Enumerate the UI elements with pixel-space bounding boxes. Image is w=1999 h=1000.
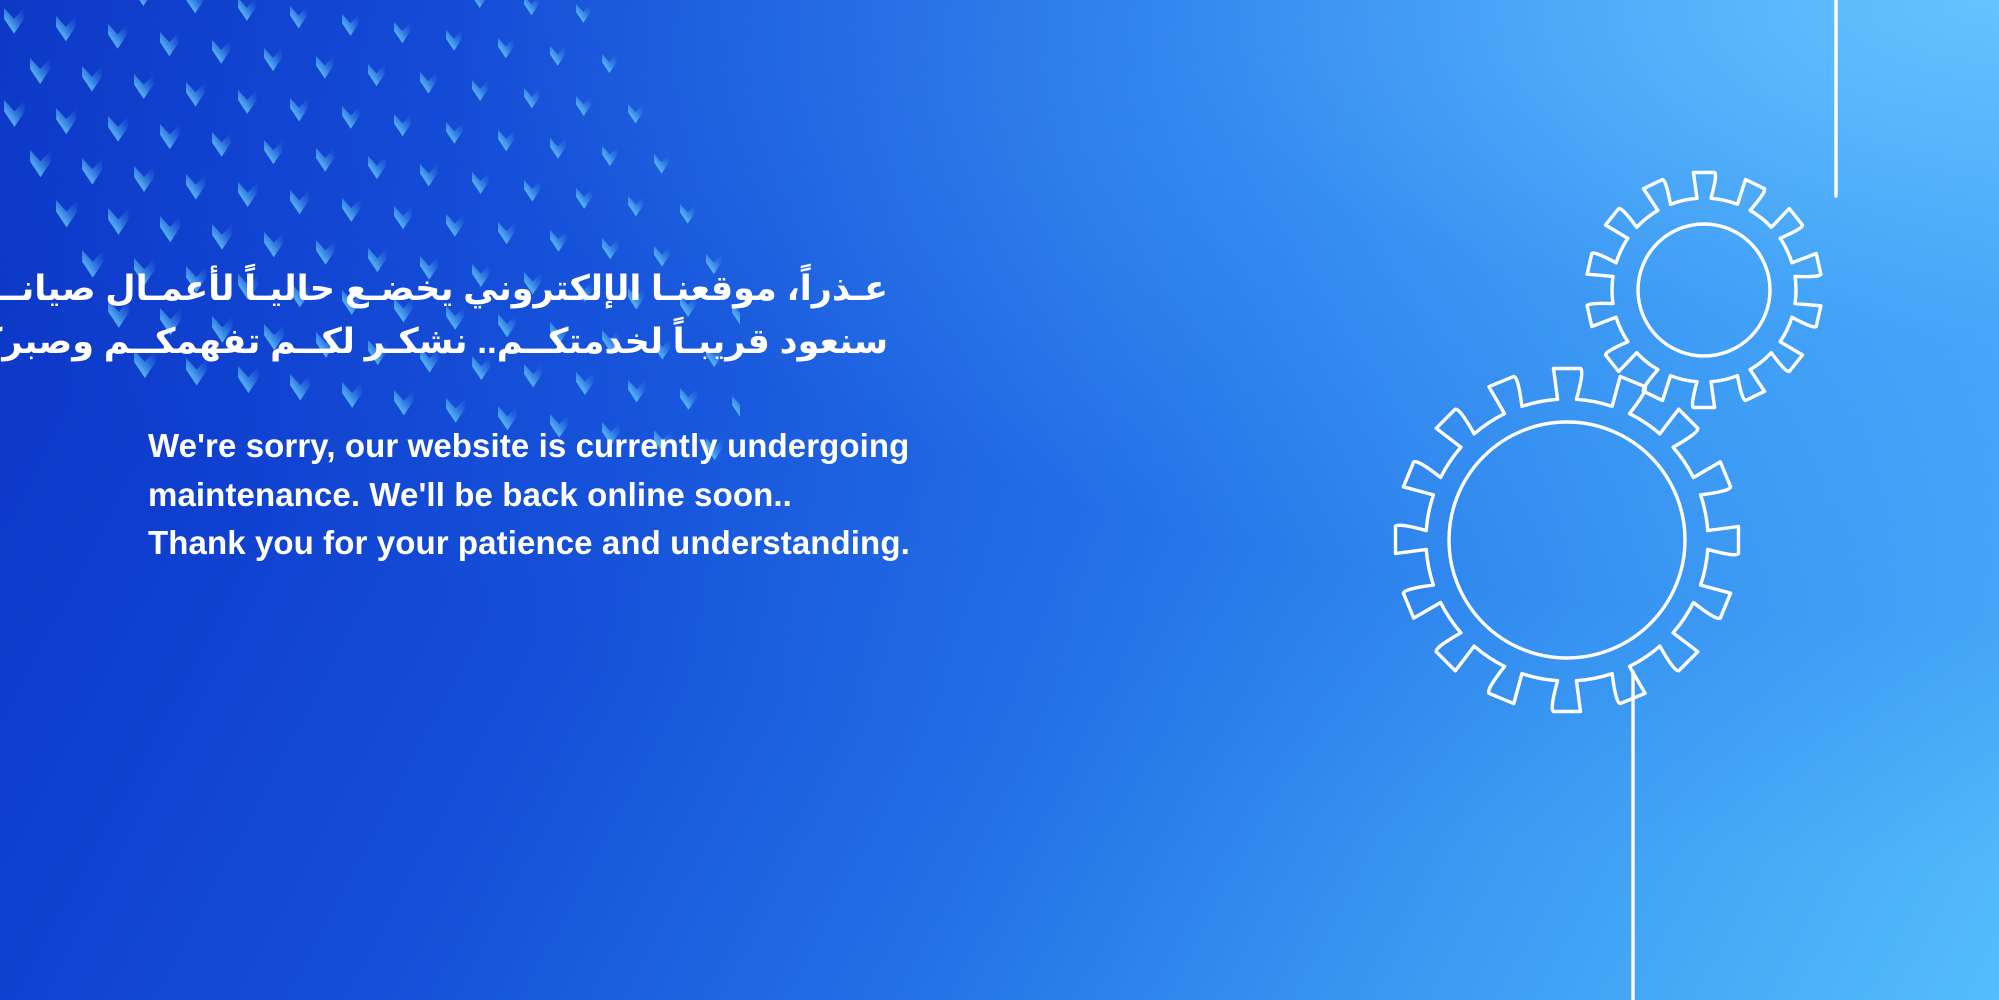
english-line-1: We're sorry, our website is currently un…	[148, 422, 1148, 470]
gear-illustration	[1099, 0, 1999, 1000]
arabic-line-2: سنعود قريبـاً لخدمتكــم.. نشكـر لكــم تف…	[148, 315, 888, 368]
maintenance-message: عـذراً، موقعنـا الإلكتروني يخضـع حاليـاً…	[148, 262, 1148, 567]
large-gear-hub	[1449, 422, 1685, 658]
arabic-message: عـذراً، موقعنـا الإلكتروني يخضـع حاليـاً…	[148, 262, 1148, 368]
arabic-line-1: عـذراً، موقعنـا الإلكتروني يخضـع حاليـاً…	[148, 262, 888, 315]
small-gear	[1587, 173, 1821, 408]
english-line-2: maintenance. We'll be back online soon..	[148, 471, 1148, 519]
large-gear	[1396, 369, 1739, 712]
maintenance-page: عـذراً، موقعنـا الإلكتروني يخضـع حاليـاً…	[0, 0, 1999, 1000]
english-line-3: Thank you for your patience and understa…	[148, 519, 1148, 567]
small-gear-hub	[1638, 224, 1770, 356]
english-message: We're sorry, our website is currently un…	[148, 422, 1148, 567]
